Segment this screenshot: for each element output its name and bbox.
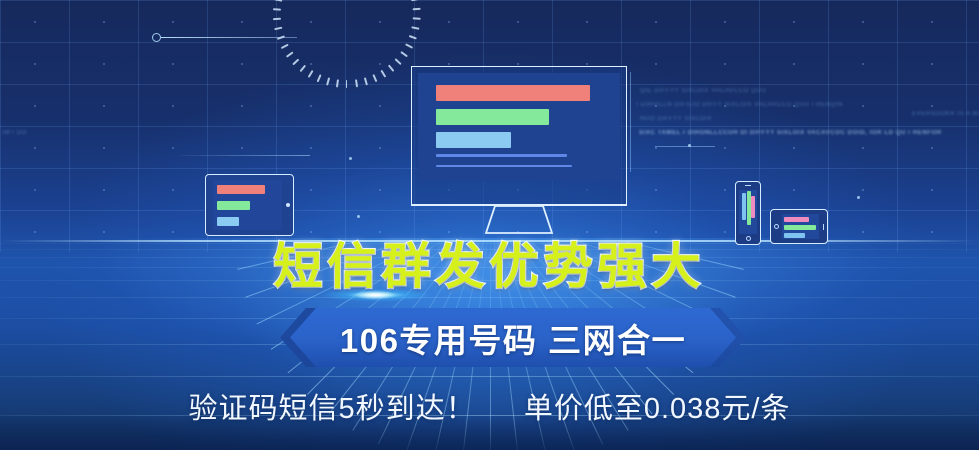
ribbon-banner-text: 106专用号码 三网合一 (280, 306, 746, 369)
phone-portrait (735, 181, 761, 245)
grid-dot (34, 189, 36, 191)
tagline: 验证码短信5秒到达！ 单价低至0.038元/条 (0, 385, 979, 427)
grid-dot (586, 63, 588, 65)
grid-dot (34, 105, 36, 107)
grid-dot (655, 189, 657, 191)
deco-text-line: QIE DIFFYY SIXLOIX VACAVCCO QUU (640, 88, 766, 94)
grid-dot (103, 63, 105, 65)
accent-dot (857, 196, 860, 199)
grid-dot (103, 189, 105, 191)
dial-tick (372, 74, 377, 82)
dial-tick (335, 79, 338, 87)
grid-dot (103, 105, 105, 107)
grid-dot (931, 105, 933, 107)
dial-tick (387, 65, 393, 72)
grid-dot (862, 21, 864, 23)
grid-dot (172, 147, 174, 149)
tablet-landscape (205, 174, 294, 236)
dial-tick (326, 77, 330, 85)
secondary-connector-line (180, 155, 310, 156)
node-circle-icon (152, 33, 161, 42)
grid-dot (34, 63, 36, 65)
grid-dot (724, 63, 726, 65)
monitor-bar-green (436, 109, 549, 125)
grid-dot (241, 21, 243, 23)
dial-tick (292, 58, 299, 65)
grid-dot (379, 231, 381, 233)
grid-dot (724, 147, 726, 149)
deco-text-line: HUO DIFFYY SIXLOIX (640, 116, 712, 122)
grid-dot (862, 231, 864, 233)
grid-dot (448, 63, 450, 65)
dial-tick (307, 70, 313, 78)
dial-tick (363, 77, 367, 85)
desktop-monitor (411, 66, 627, 206)
grid-dot (103, 21, 105, 23)
grid-dot (34, 147, 36, 149)
tablet-bar-red (217, 185, 265, 194)
grid-dot (931, 147, 933, 149)
monitor-line-2 (436, 165, 571, 168)
grid-dot (172, 231, 174, 233)
deco-text-line: SIXC TAMEL I DIHONLLCCUH DI DIFFYY SIXLO… (639, 130, 942, 136)
grid-dot (517, 63, 519, 65)
dial-ticks-icon (287, 5, 404, 155)
grid-dot (172, 21, 174, 23)
grid-dot (310, 189, 312, 191)
deco-text-far: IW'I DO (2, 130, 27, 136)
phone-bar-blue (742, 193, 746, 220)
dial-tick (346, 80, 348, 88)
phone-land-bar-pink (784, 217, 809, 222)
grid-line-horizontal (0, 0, 979, 1)
grid-dot (931, 189, 933, 191)
grid-dot (586, 231, 588, 233)
dial-tick (354, 79, 357, 87)
accent-dot (349, 157, 352, 160)
deco-divider (630, 72, 631, 172)
deco-text-right: EVERSDOKR IS A BUO DA SHA (912, 111, 979, 117)
grid-dot (172, 189, 174, 191)
tablet-screen (213, 180, 282, 230)
grid-dot (517, 21, 519, 23)
phone-speaker-icon (745, 185, 751, 186)
grid-dot (448, 21, 450, 23)
node-connector-line (161, 37, 297, 38)
grid-dot (724, 231, 726, 233)
grid-dot (655, 63, 657, 65)
grid-dot (862, 189, 864, 191)
grid-dot (34, 21, 36, 23)
grid-dot (793, 63, 795, 65)
sms-marketing-banner: QIE DIFFYY SIXLOIX VACAVCCO QUU I DIHVIL… (0, 0, 979, 450)
grid-dot (34, 231, 36, 233)
grid-dot (586, 21, 588, 23)
tablet-bar-blue (217, 217, 239, 226)
grid-dot (379, 189, 381, 191)
grid-dot (724, 189, 726, 191)
grid-dot (241, 63, 243, 65)
phone-landscape-screen (782, 214, 819, 239)
grid-dot (655, 231, 657, 233)
grid-dot (655, 147, 657, 149)
tagline-left: 验证码短信5秒到达！ (189, 393, 476, 425)
tablet-bar-green (217, 201, 250, 210)
tablet-home-button-icon (286, 203, 290, 207)
deco-underline (655, 146, 715, 147)
grid-dot (103, 231, 105, 233)
grid-dot (172, 105, 174, 107)
grid-line-horizontal (0, 42, 979, 43)
dial-tick (285, 51, 292, 57)
phone-home-button-icon (774, 224, 779, 229)
dial-tick (316, 74, 321, 82)
grid-dot (931, 231, 933, 233)
phone-land-bar-blue (784, 233, 804, 238)
monitor-bar-red (436, 85, 590, 101)
grid-dot (724, 21, 726, 23)
monitor-line-1 (436, 154, 567, 157)
grid-dot (793, 21, 795, 23)
phone-bar-green (747, 191, 751, 225)
grid-dot (172, 63, 174, 65)
dial-tick (380, 70, 386, 78)
grid-dot (862, 147, 864, 149)
tagline-right: 单价低至0.038元/条 (524, 393, 791, 425)
grid-dot (931, 63, 933, 65)
phone-portrait-screen (739, 190, 757, 234)
grid-dot (310, 231, 312, 233)
dial-tick (299, 65, 305, 72)
phone-bar-pink (751, 196, 755, 218)
grid-dot (931, 21, 933, 23)
grid-dot (103, 147, 105, 149)
grid-dot (448, 231, 450, 233)
dial-tick (394, 58, 401, 65)
monitor-bar-blue (436, 132, 511, 148)
grid-dot (862, 105, 864, 107)
phone-land-bar-green (784, 225, 816, 230)
grid-dot (241, 105, 243, 107)
grid-dot (793, 147, 795, 149)
grid-dot (793, 189, 795, 191)
accent-dot (357, 215, 360, 218)
accent-dot (688, 144, 691, 147)
grid-dot (862, 63, 864, 65)
lens-flare-core (344, 287, 406, 303)
page-title: 短信群发优势强大 (0, 239, 979, 295)
monitor-screen (418, 73, 620, 181)
phone-speaker-icon (823, 224, 824, 230)
deco-text-line: I DIHVILLN DIFILIO DIFFY SIXLOIX VACAVCC… (636, 102, 843, 108)
grid-dot (241, 147, 243, 149)
grid-dot (655, 21, 657, 23)
monitor-stand (484, 206, 554, 234)
